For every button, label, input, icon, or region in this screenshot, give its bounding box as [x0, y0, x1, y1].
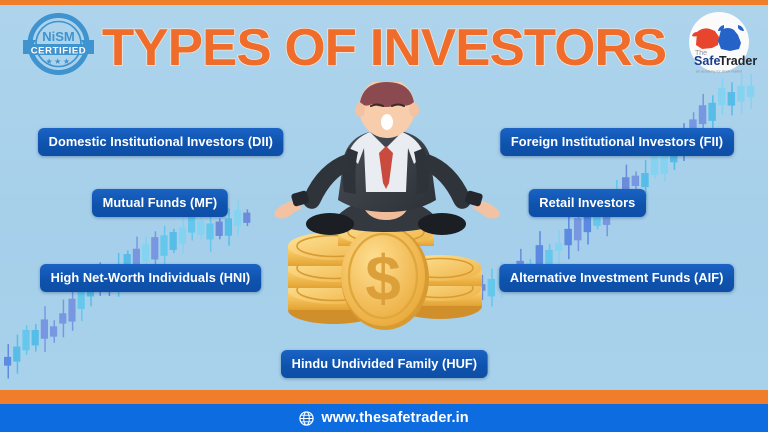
globe-icon [299, 411, 314, 426]
label-dii[interactable]: Domestic Institutional Investors (DII) [38, 128, 284, 156]
label-hni[interactable]: High Net-Worth Individuals (HNI) [40, 264, 261, 292]
meditating-businessman-on-gold-coins: $ [272, 82, 502, 352]
logo-word-safe: Safe [694, 54, 720, 68]
dollar-coin: $ [341, 226, 429, 330]
nism-badge-line1: NiSM [42, 29, 75, 44]
footer-url[interactable]: www.thesafetrader.in [321, 410, 468, 426]
logo-tagline: an academy for stock market [696, 70, 742, 74]
character-body [338, 130, 436, 212]
nism-badge-line2: CERTIFIED [31, 46, 87, 57]
right-shoe [418, 213, 466, 235]
top-orange-stripe [0, 0, 768, 5]
hair [360, 82, 414, 107]
label-huf[interactable]: Hindu Undivided Family (HUF) [281, 350, 488, 378]
dollar-sign: $ [365, 242, 401, 314]
label-aif[interactable]: Alternative Investment Funds (AIF) [499, 264, 734, 292]
label-mf[interactable]: Mutual Funds (MF) [92, 189, 228, 217]
nism-badge-stars: ★★★ [45, 57, 71, 66]
nism-certified-badge: NiSM CERTIFIED ★★★ [17, 13, 100, 75]
gold-coin-stack: $ [288, 218, 482, 330]
footer-orange-stripe [0, 390, 768, 404]
label-fii[interactable]: Foreign Institutional Investors (FII) [501, 128, 734, 156]
poster-canvas: NiSM CERTIFIED ★★★ TYPES OF INVESTORS Th… [0, 0, 768, 432]
label-retail-investors[interactable]: Retail Investors [529, 189, 646, 217]
footer-bar: www.thesafetrader.in [0, 404, 768, 432]
left-shoe [306, 213, 354, 235]
the-safe-trader-logo: The Safe Trader an academy for stock mar… [680, 8, 758, 80]
page-title: TYPES OF INVESTORS [0, 18, 768, 78]
character-head [355, 82, 419, 138]
logo-word-trader: Trader [719, 54, 757, 68]
